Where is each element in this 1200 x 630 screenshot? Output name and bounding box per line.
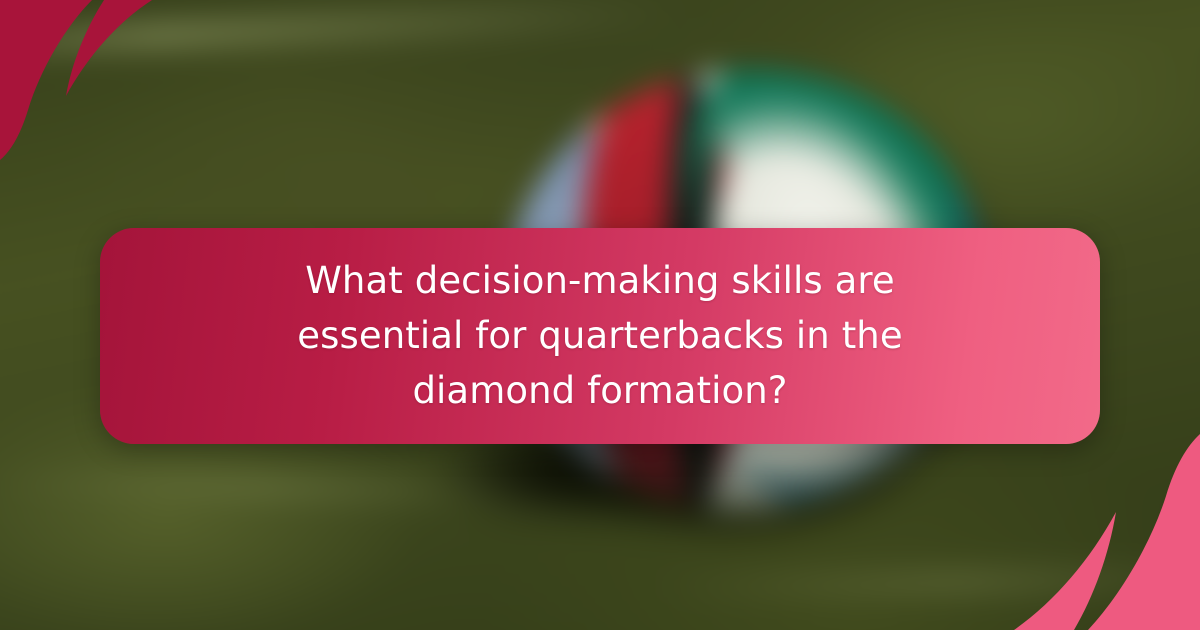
question-text: What decision-making skills are essentia… <box>205 228 995 444</box>
question-card: What decision-making skills are essentia… <box>0 0 1200 630</box>
question-banner: What decision-making skills are essentia… <box>100 228 1100 444</box>
